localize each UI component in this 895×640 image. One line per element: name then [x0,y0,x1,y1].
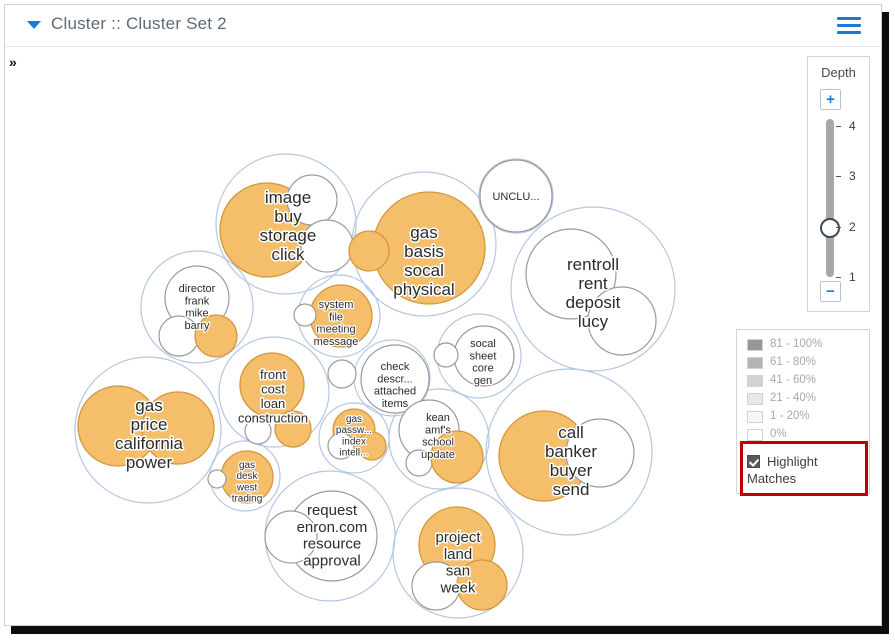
legend-swatch [747,429,763,441]
tick-dash [836,277,841,278]
legend-swatch [747,393,763,405]
node-check-sibling[interactable] [328,360,356,388]
depth-tick-1: 1 [836,272,870,284]
collapse-triangle-icon[interactable] [27,21,41,29]
tick-label: 4 [849,119,856,133]
legend-label: 0% [770,428,787,440]
tick-label: 2 [849,220,856,234]
depth-increase-button[interactable]: + [820,89,841,110]
tick-dash [836,126,841,127]
legend-label: 1 - 20% [770,410,810,422]
legend-label: 61 - 80% [770,356,816,368]
depth-panel: Depth + − 4 3 2 1 [807,56,870,312]
tick-label: 1 [849,270,856,284]
legend-label: 81 - 100% [770,338,822,350]
node-request-enron-resource-approval-label: requestenron.comresourceapproval [297,502,368,569]
legend-label: 41 - 60% [770,374,816,386]
depth-slider-track[interactable] [826,119,834,277]
node-kean-amfs-school-update-label: keanamf'sschoolupdate [421,412,455,461]
highlight-matches-control[interactable]: Highlight Matches [747,454,859,488]
depth-label: Depth [808,65,869,80]
depth-tick-2: 2 [836,222,870,234]
node-system-file-meeting-message-label: systemfilemeetingmessage [314,299,359,348]
legend-panel: 81 - 100% 61 - 80% 41 - 60% 21 - 40% 1 -… [736,329,870,494]
node-unclustered-label: UNCLU... [492,191,539,203]
legend-swatch [747,357,763,369]
depth-tick-4: 4 [836,121,870,133]
legend-label: 21 - 40% [770,392,816,404]
depth-decrease-button[interactable]: − [820,281,841,302]
node-gas-desk-sibling[interactable] [208,470,226,488]
plus-icon: + [821,90,840,109]
tick-dash [836,176,841,177]
cluster-canvas-area: » imagebuystorageclickgasbasissocalphysi… [5,48,881,625]
page-title: Cluster :: Cluster Set 2 [51,14,227,34]
legend-swatch [747,411,763,423]
highlight-matches-label-line2: Matches [747,471,796,486]
highlight-matches-label-line1: Highlight [767,454,818,469]
highlight-matches-checkbox[interactable] [747,455,760,468]
tick-dash [836,227,841,228]
node-system-sibling[interactable] [294,304,316,326]
node-socal-sheet-sibling[interactable] [434,343,458,367]
window-header: Cluster :: Cluster Set 2 [5,5,881,47]
hamburger-menu-icon[interactable] [837,17,861,35]
legend-swatch [747,375,763,387]
legend-swatch [747,339,763,351]
minus-icon: − [821,282,840,301]
depth-tick-3: 3 [836,171,870,183]
cluster-window: Cluster :: Cluster Set 2 » imagebuystora… [4,4,882,626]
node-gas-basis-sibling[interactable] [349,231,389,271]
tick-label: 3 [849,169,856,183]
